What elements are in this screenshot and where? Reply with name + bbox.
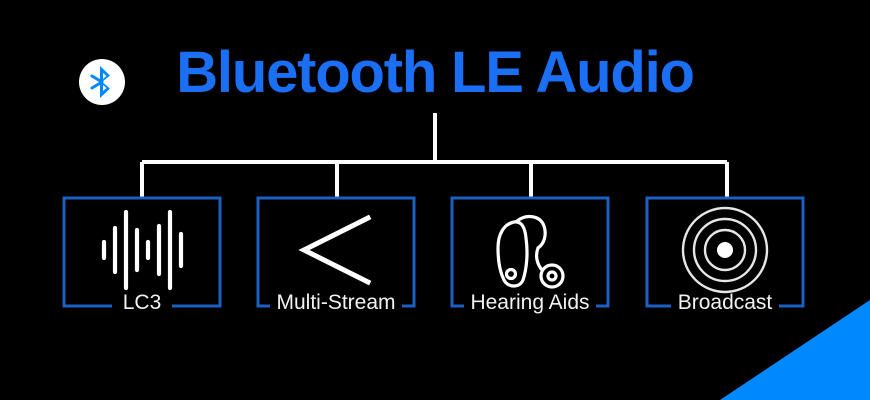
bluetooth-logo-icon	[78, 58, 126, 106]
brand-corner-triangle	[710, 300, 870, 400]
broadcast-rings-icon	[645, 202, 805, 298]
page-title: Bluetooth LE Audio	[0, 44, 870, 102]
hearing-aid-icon	[450, 202, 610, 298]
feature-card-multi-stream[interactable]: Multi-Stream	[256, 196, 416, 308]
chevron-left-icon	[256, 202, 416, 298]
audio-waveform-icon	[62, 202, 222, 298]
feature-card-hearing-aids[interactable]: Hearing Aids	[450, 196, 610, 308]
bluetooth-le-audio-infographic: Bluetooth LE Audio	[0, 0, 870, 400]
feature-card-broadcast[interactable]: Broadcast	[645, 196, 805, 308]
feature-card-lc3[interactable]: LC3	[62, 196, 222, 308]
